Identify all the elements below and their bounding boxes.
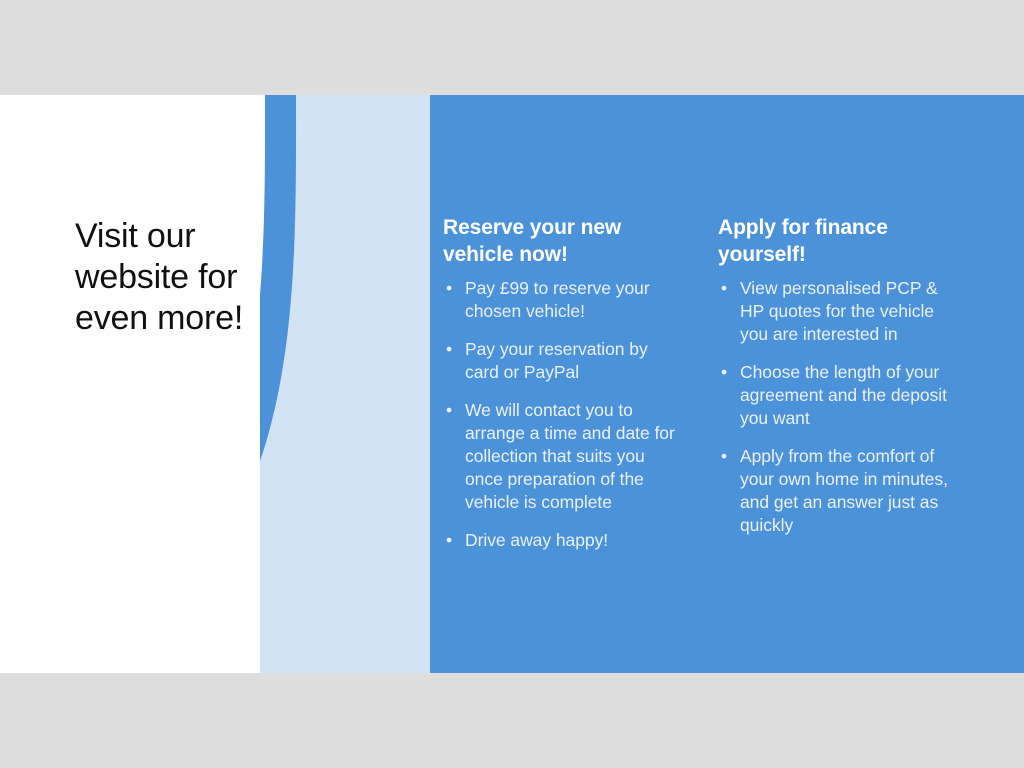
bullet-dot-icon: • xyxy=(446,277,452,300)
list-item: • Pay £99 to reserve your chosen vehicle… xyxy=(443,277,676,323)
column-reserve: Reserve your new vehicle now! • Pay £99 … xyxy=(443,214,676,552)
bullet-dot-icon: • xyxy=(446,399,452,422)
page-title-line-2: website for xyxy=(75,257,325,298)
white-panel-shape xyxy=(0,95,265,673)
list-item-text: Pay your reservation by card or PayPal xyxy=(465,339,648,382)
list-item: • View personalised PCP & HP quotes for … xyxy=(718,277,951,346)
list-item-text: Pay £99 to reserve your chosen vehicle! xyxy=(465,278,650,321)
content-columns: Reserve your new vehicle now! • Pay £99 … xyxy=(443,95,1003,673)
list-item-text: Apply from the comfort of your own home … xyxy=(740,446,948,535)
slide-canvas: Visit our website for even more! Reserve… xyxy=(0,95,1024,673)
slide-root: Visit our website for even more! Reserve… xyxy=(0,0,1024,768)
column-finance-heading: Apply for finance yourself! xyxy=(718,214,951,268)
list-item: • Choose the length of your agreement an… xyxy=(718,361,951,430)
list-item: • Apply from the comfort of your own hom… xyxy=(718,445,951,537)
white-panel-fill xyxy=(0,95,260,673)
letterbox-bar-top xyxy=(0,0,1024,95)
page-title: Visit our website for even more! xyxy=(75,216,325,339)
page-title-line-3: even more! xyxy=(75,298,325,339)
column-reserve-heading: Reserve your new vehicle now! xyxy=(443,214,676,268)
list-item-text: Drive away happy! xyxy=(465,530,608,550)
list-item-text: View personalised PCP & HP quotes for th… xyxy=(740,278,938,344)
list-item: • Pay your reservation by card or PayPal xyxy=(443,338,676,384)
page-title-line-1: Visit our xyxy=(75,216,325,257)
list-item: • We will contact you to arrange a time … xyxy=(443,399,676,514)
list-item: • Drive away happy! xyxy=(443,529,676,552)
list-item-text: Choose the length of your agreement and … xyxy=(740,362,947,428)
column-finance: Apply for finance yourself! • View perso… xyxy=(718,214,951,537)
bullet-dot-icon: • xyxy=(721,277,727,300)
column-finance-bullet-list: • View personalised PCP & HP quotes for … xyxy=(718,277,951,537)
column-reserve-bullet-list: • Pay £99 to reserve your chosen vehicle… xyxy=(443,277,676,552)
bullet-dot-icon: • xyxy=(721,445,727,468)
accent-arc-band xyxy=(0,95,430,673)
list-item-text: We will contact you to arrange a time an… xyxy=(465,400,675,512)
letterbox-bar-bottom xyxy=(0,673,1024,768)
bullet-dot-icon: • xyxy=(446,338,452,361)
bullet-dot-icon: • xyxy=(446,529,452,552)
bullet-dot-icon: • xyxy=(721,361,727,384)
